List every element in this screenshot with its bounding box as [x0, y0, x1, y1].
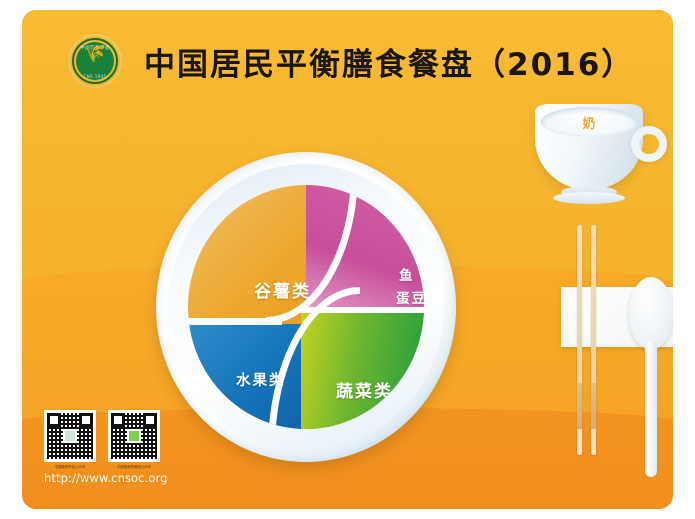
- plate-label-protein-line2: 蛋豆类: [396, 287, 424, 307]
- milk-label: 奶: [541, 113, 637, 132]
- qr-code-group: [44, 410, 194, 462]
- plate-label-grain: 谷薯类: [254, 277, 311, 302]
- chinese-nutrition-society-logo-icon: 中国营养学会 🌾 CNS 1945: [68, 34, 122, 88]
- qr-code-1[interactable]: [44, 410, 96, 462]
- qr-code-2-center-icon: [127, 429, 141, 443]
- website-url[interactable]: http://www.cnsoc.org: [44, 471, 194, 485]
- spoon-handle: [645, 341, 657, 477]
- tableware-setting: [537, 225, 673, 475]
- poster-canvas: 中国营养学会 🌾 CNS 1945 中国居民平衡膳食餐盘（2016） 谷薯类 鱼…: [22, 10, 673, 509]
- qr-code-2-pattern: [111, 413, 157, 459]
- chopstick-left-tip: [577, 383, 582, 429]
- cup-base: [553, 192, 625, 204]
- chopstick-right: [591, 225, 596, 455]
- chopstick-right-tip: [591, 383, 596, 429]
- logo-arc-bottom-text: CNS 1945: [68, 74, 122, 79]
- qr-code-captions: 中国营养学会公众号 中国营养界微信公众号: [44, 465, 194, 470]
- spoon-bowl: [629, 277, 673, 349]
- page-title: 中国居民平衡膳食餐盘（2016）: [144, 32, 614, 90]
- qr-code-1-center-icon: [63, 429, 77, 443]
- milk-cup-icon: 奶: [527, 98, 673, 208]
- spoon-icon: [629, 277, 673, 477]
- milk-surface: 奶: [541, 107, 637, 137]
- plate-label-fruit: 水果类: [236, 369, 286, 390]
- qr-code-1-caption: 中国营养学会公众号: [44, 465, 96, 470]
- qr-code-1-pattern: [47, 413, 93, 459]
- balanced-diet-plate: 谷薯类 鱼 肉 蛋豆类 水果类 蔬菜类: [156, 152, 456, 462]
- plate-label-vegetable: 蔬菜类: [336, 377, 393, 402]
- chopstick-left: [577, 225, 582, 455]
- qr-code-2-caption: 中国营养界微信公众号: [108, 465, 160, 470]
- plate-label-protein-line1: 鱼 肉: [399, 264, 424, 284]
- plate-well: 谷薯类 鱼 肉 蛋豆类 水果类 蔬菜类: [188, 185, 424, 429]
- footer-block: 中国营养学会公众号 中国营养界微信公众号 http://www.cnsoc.or…: [44, 410, 194, 485]
- qr-code-2[interactable]: [108, 410, 160, 462]
- wheat-icon: 🌾: [68, 45, 122, 63]
